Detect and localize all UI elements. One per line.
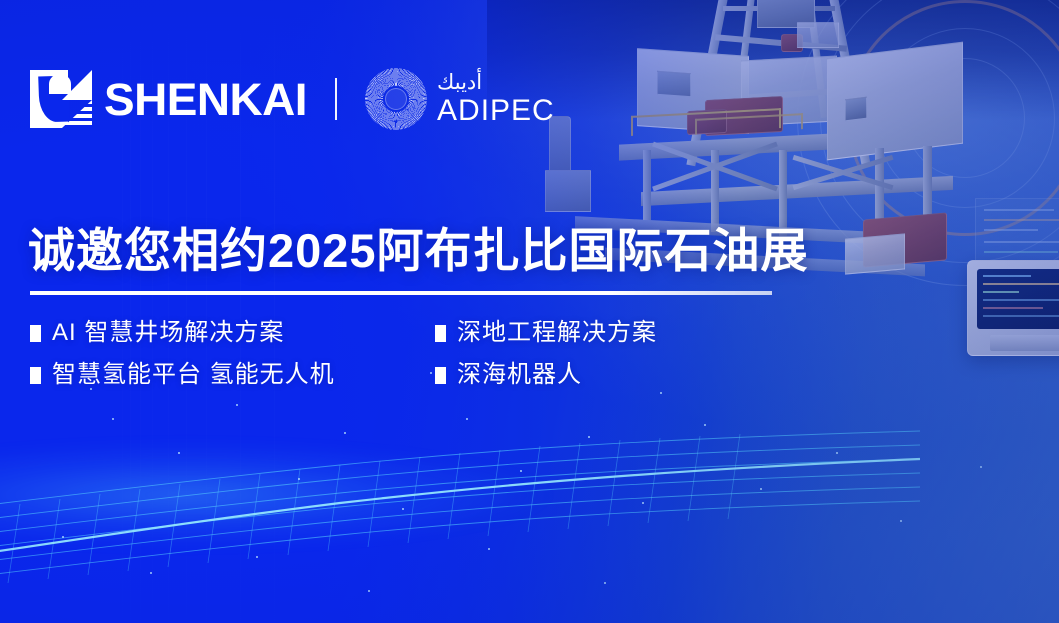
feature-row: 智慧氢能平台 氢能无人机 深海机器人	[30, 354, 790, 396]
feature-label: 深海机器人	[457, 363, 582, 387]
promotional-banner: SHENKAI أديبك ADIPEC 诚邀您相约2025阿布扎比国际石油展	[0, 0, 1059, 623]
title-divider	[30, 291, 772, 295]
square-bullet-icon	[30, 325, 41, 342]
list-item: 深海机器人	[435, 363, 582, 387]
square-bullet-icon	[30, 367, 41, 384]
list-item: AI 智慧井场解决方案	[30, 321, 435, 345]
feature-label: AI 智慧井场解决方案	[52, 321, 284, 345]
shenkai-k-mark-icon	[30, 70, 92, 128]
list-item: 智慧氢能平台 氢能无人机	[30, 363, 435, 387]
shenkai-wordmark: SHENKAI	[104, 77, 307, 122]
feature-row: AI 智慧井场解决方案 深地工程解决方案	[30, 312, 790, 354]
square-bullet-icon	[435, 325, 446, 342]
square-bullet-icon	[435, 367, 446, 384]
logo-lockup-row: SHENKAI أديبك ADIPEC	[30, 68, 555, 130]
feature-label: 深地工程解决方案	[457, 321, 657, 345]
adipec-latin-name: ADIPEC	[437, 96, 555, 126]
feature-label: 智慧氢能平台 氢能无人机	[52, 363, 335, 387]
page-title: 诚邀您相约2025阿布扎比国际石油展	[28, 225, 809, 278]
adipec-logo: أديبك ADIPEC	[365, 68, 555, 130]
feature-list: AI 智慧井场解决方案 深地工程解决方案 智慧氢能平台 氢能无人机 深海机器人	[30, 312, 790, 396]
adipec-arabic-name: أديبك	[437, 72, 482, 94]
vertical-divider-icon	[335, 78, 337, 120]
list-item: 深地工程解决方案	[435, 321, 657, 345]
adipec-radial-burst-icon	[365, 68, 427, 130]
banner-content: SHENKAI أديبك ADIPEC 诚邀您相约2025阿布扎比国际石油展	[0, 0, 1059, 623]
